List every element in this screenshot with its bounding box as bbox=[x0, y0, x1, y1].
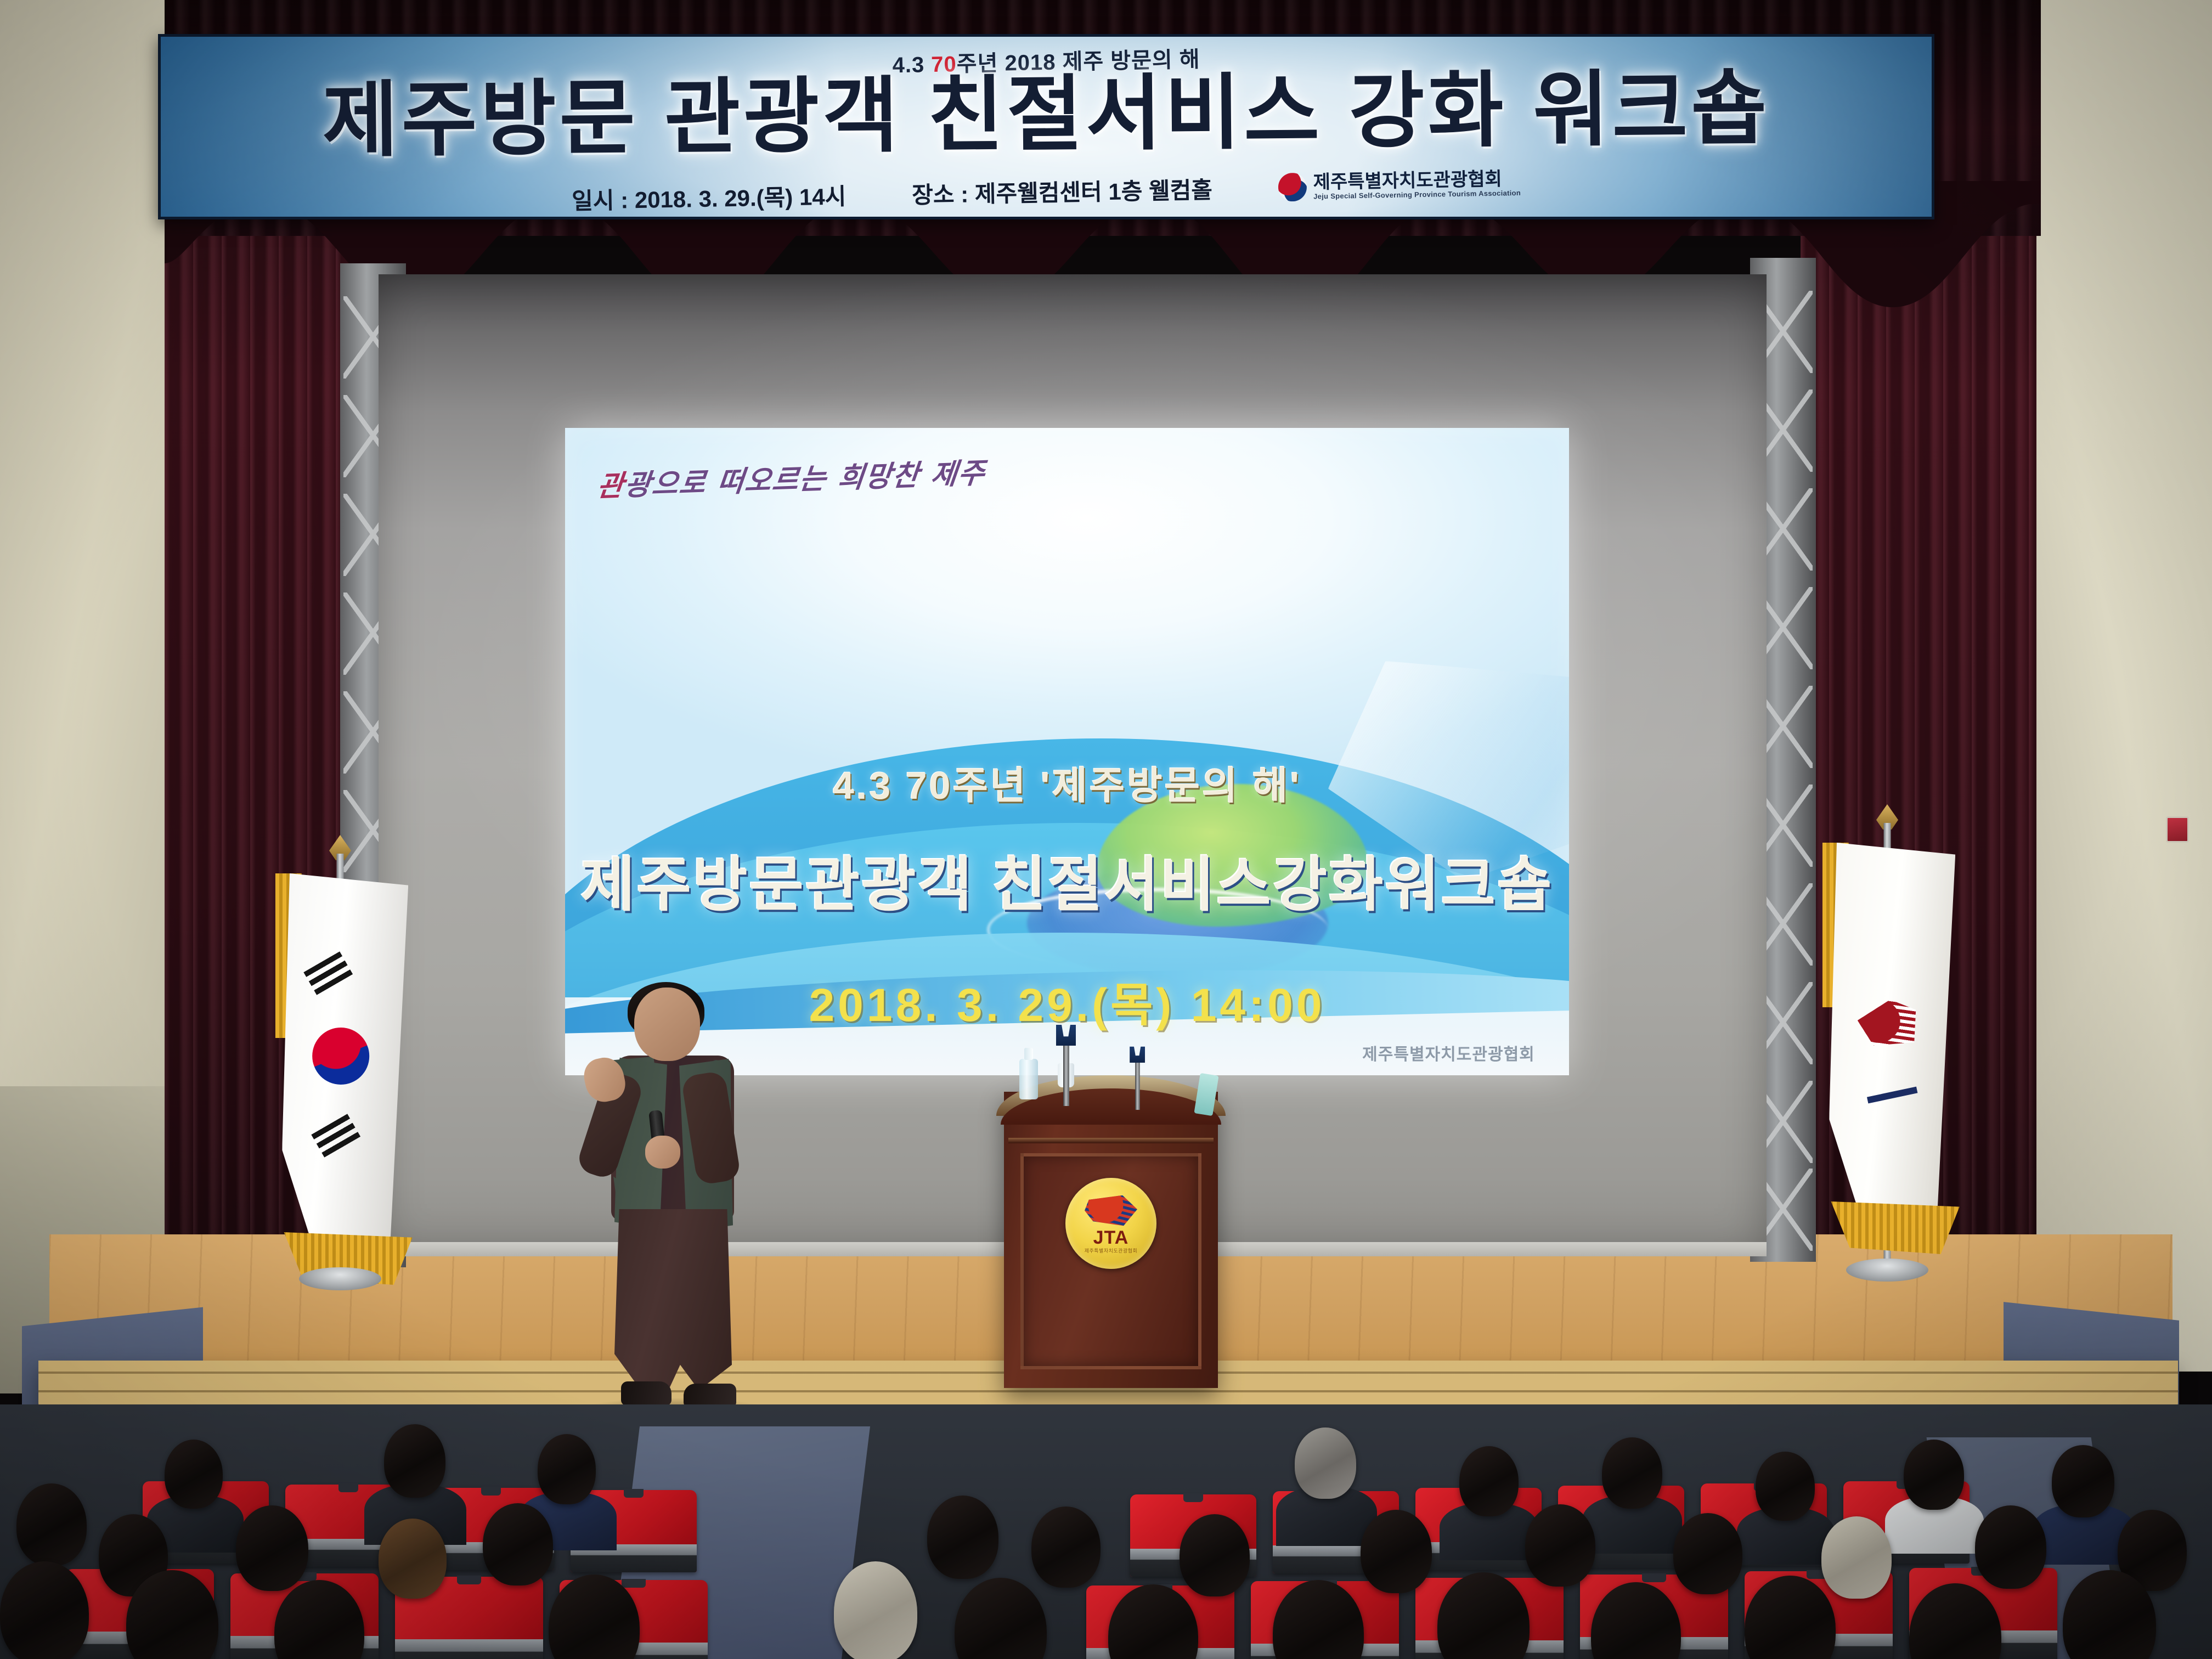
flag-fringe-bottom bbox=[1826, 1201, 1960, 1254]
south-korea-flag bbox=[274, 854, 406, 1276]
attendee bbox=[1361, 1510, 1432, 1593]
flag-base bbox=[1846, 1259, 1928, 1282]
attendee bbox=[165, 1440, 223, 1509]
attendee bbox=[927, 1496, 998, 1579]
jta-logo-text: JTA bbox=[1093, 1228, 1129, 1247]
taegukgi-cloth bbox=[282, 873, 408, 1268]
attendee bbox=[236, 1505, 308, 1591]
attendee bbox=[1459, 1446, 1519, 1516]
speaker-shoe-left bbox=[621, 1381, 672, 1406]
attendee bbox=[834, 1561, 917, 1659]
attendee bbox=[16, 1483, 87, 1566]
organization-emblem-bar bbox=[1867, 1086, 1917, 1103]
slide-tagline-rest: 광으로 떠오르는 희망찬 제주 bbox=[623, 456, 987, 502]
right-wall bbox=[2025, 0, 2212, 1372]
jta-rosette-icon bbox=[1278, 172, 1307, 201]
banner-footer: 일시 : 2018. 3. 29.(목) 14시 장소 : 제주웰컴센터 1층 … bbox=[161, 159, 1932, 219]
attendee bbox=[379, 1519, 447, 1599]
attendee bbox=[1295, 1427, 1356, 1499]
attendee bbox=[1525, 1504, 1595, 1587]
jta-seal: JTA 제주특별자치도관광협회 bbox=[1065, 1178, 1156, 1269]
jta-logo-subtext: 제주특별자치도관광협회 bbox=[1085, 1247, 1138, 1254]
attendee bbox=[1904, 1440, 1964, 1510]
projected-slide: 관광으로 떠오르는 희망찬 제주 4.3 70주년 '제주방문의 해' 제주방문… bbox=[565, 428, 1569, 1075]
podium-front-panel: JTA 제주특별자치도관광협회 bbox=[1020, 1153, 1201, 1369]
attendee bbox=[1821, 1516, 1892, 1599]
slide-handwritten-tagline: 관광으로 떠오르는 희망찬 제주 bbox=[595, 449, 988, 504]
flag-base bbox=[299, 1267, 381, 1290]
attendee bbox=[1602, 1437, 1662, 1509]
slide-credit: 제주특별자치도관광협회 bbox=[1362, 1041, 1535, 1065]
attendee bbox=[384, 1424, 445, 1498]
attendee bbox=[1975, 1505, 2046, 1589]
microphone-holder-left bbox=[1063, 1041, 1069, 1106]
banner-datetime: 일시 : 2018. 3. 29.(목) 14시 bbox=[572, 178, 847, 216]
event-banner: 4.3 70주년 2018 제주 방문의 해 제주방문 관광객 친절서비스 강화… bbox=[158, 34, 1934, 219]
auditorium-photo: 4.3 70주년 2018 제주 방문의 해 제주방문 관광객 친절서비스 강화… bbox=[0, 0, 2212, 1659]
fire-alarm-icon bbox=[2166, 816, 2189, 843]
slide-tagline-accent: 관 bbox=[595, 469, 626, 503]
attendee bbox=[1180, 1514, 1250, 1596]
slide-main-title: 제주방문관광객 친절서비스강화워크숍 bbox=[565, 855, 1569, 915]
attendee bbox=[483, 1503, 553, 1585]
speaker-presenter bbox=[582, 988, 763, 1421]
attendee bbox=[0, 1561, 89, 1659]
organization-flag bbox=[1821, 823, 1953, 1267]
speaker-hand-holding-mic bbox=[645, 1136, 680, 1169]
attendee bbox=[2052, 1445, 2114, 1517]
banner-organization: 제주특별자치도관광협회 Jeju Special Self-Governing … bbox=[1278, 168, 1521, 201]
podium: JTA 제주특별자치도관광협회 bbox=[1004, 1092, 1218, 1388]
attendee bbox=[1673, 1513, 1742, 1594]
trigram-icon-bottom bbox=[311, 1114, 360, 1158]
slide-subtitle: 4.3 70주년 '제주방문의 해' bbox=[565, 755, 1569, 810]
trigram-icon-top bbox=[303, 952, 353, 996]
jta-swoosh-icon bbox=[1085, 1195, 1137, 1227]
speaker-trousers bbox=[614, 1209, 732, 1390]
banner-place: 장소 : 제주웰컴센터 1층 웰컴홀 bbox=[912, 172, 1213, 211]
attendee bbox=[538, 1434, 596, 1504]
attendee bbox=[1756, 1452, 1815, 1521]
water-bottle bbox=[1019, 1059, 1038, 1099]
attendee bbox=[1031, 1506, 1101, 1588]
taeguk-circle-icon bbox=[304, 1019, 378, 1093]
banner-title: 제주방문 관광객 친절서비스 강화 워크숍 bbox=[160, 65, 1932, 163]
organization-flag-cloth bbox=[1829, 843, 1955, 1238]
speaker-head bbox=[634, 988, 700, 1061]
podium-ridge bbox=[1008, 1138, 1214, 1143]
organization-emblem-icon bbox=[1855, 994, 1924, 1054]
microphone-holder-right bbox=[1135, 1059, 1140, 1110]
